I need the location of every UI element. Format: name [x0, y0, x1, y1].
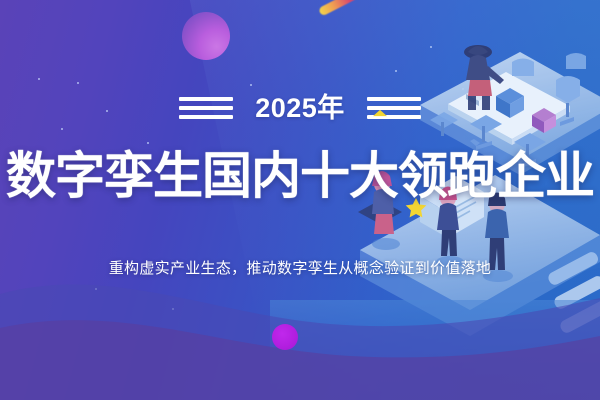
star-speck — [250, 84, 252, 86]
right-bars-decoration — [367, 97, 421, 119]
bar-line — [179, 115, 233, 119]
star-speck — [38, 78, 40, 80]
star-speck — [147, 142, 149, 144]
page-subtitle: 重构虚实产业生态，推动数字孪生从概念验证到价值落地 — [0, 259, 600, 279]
bar-line — [367, 97, 421, 101]
bar-line — [179, 97, 233, 101]
page-title: 数字孪生国内十大领跑企业 — [0, 150, 600, 203]
star-speck — [61, 128, 63, 130]
purple-planet-icon — [182, 12, 230, 60]
magenta-dot-icon — [272, 324, 298, 350]
year-row: 2025年 — [0, 88, 600, 128]
year-label: 2025年 — [255, 95, 345, 122]
star-speck — [77, 82, 79, 84]
poster-banner: 2025年 数字孪生国内十大领跑企业 重构虚实产业生态，推动数字孪生从概念验证到… — [0, 0, 600, 400]
yellow-star-icon — [373, 110, 387, 116]
bar-line — [179, 106, 233, 110]
left-bars-decoration — [179, 97, 233, 119]
